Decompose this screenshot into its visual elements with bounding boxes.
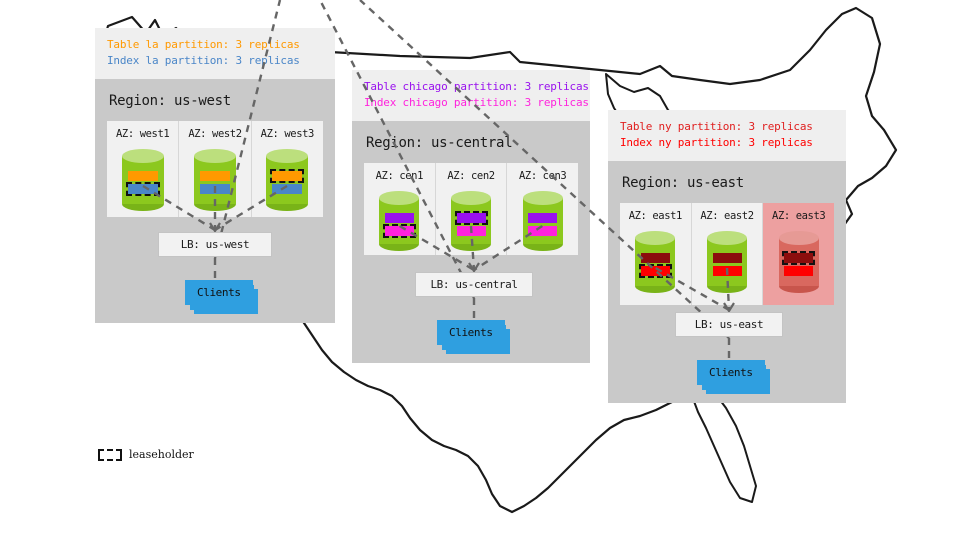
replica-band-leaseholder <box>272 171 302 181</box>
az-cell-west3[interactable]: AZ: west3 <box>252 121 323 217</box>
region-panel-us-east: Table ny partition: 3 replicasIndex ny p… <box>608 110 846 403</box>
az-label: AZ: west1 <box>113 128 172 140</box>
replica-bands <box>779 253 819 276</box>
partition-line: Table chicago partition: 3 replicas <box>364 79 578 95</box>
replica-band-leaseholder <box>641 266 670 276</box>
cylinder-top <box>194 149 236 163</box>
clients-label[interactable]: Clients <box>437 320 505 345</box>
region-title: Region: us-west <box>109 93 323 109</box>
az-label: AZ: cen2 <box>442 170 501 182</box>
partition-line: Index chicago partition: 3 replicas <box>364 95 578 111</box>
replica-bands <box>635 253 675 276</box>
database-node-cylinder[interactable] <box>122 149 164 211</box>
az-cell-west1[interactable]: AZ: west1 <box>107 121 179 217</box>
az-row-us-west: AZ: west1AZ: west2AZ: west3 <box>107 121 323 217</box>
clients-label[interactable]: Clients <box>697 360 765 385</box>
az-label: AZ: east2 <box>698 210 757 222</box>
partition-header-us-east: Table ny partition: 3 replicasIndex ny p… <box>608 110 846 161</box>
cylinder-top <box>379 191 419 205</box>
az-cell-east2[interactable]: AZ: east2 <box>692 203 764 305</box>
cylinder-top <box>779 231 819 245</box>
replica-band <box>528 226 557 236</box>
cylinder-top <box>523 191 563 205</box>
cylinder-top <box>122 149 164 163</box>
replica-band <box>641 253 670 263</box>
replica-bands <box>122 171 164 194</box>
database-node-cylinder[interactable] <box>635 231 675 293</box>
az-label: AZ: cen1 <box>370 170 429 182</box>
partition-line: Index ny partition: 3 replicas <box>620 135 834 151</box>
az-cell-east3[interactable]: AZ: east3 <box>763 203 834 305</box>
clients-label[interactable]: Clients <box>185 280 253 305</box>
replica-band <box>200 184 230 194</box>
clients-stack-us-central[interactable]: Clients <box>437 320 505 345</box>
az-cell-cen1[interactable]: AZ: cen1 <box>364 163 436 255</box>
az-cell-east1[interactable]: AZ: east1 <box>620 203 692 305</box>
dashed-rect-icon <box>98 449 122 461</box>
database-node-cylinder[interactable] <box>523 191 563 251</box>
replica-band <box>528 213 557 223</box>
region-panel-us-west: Table la partition: 3 replicasIndex la p… <box>95 28 335 323</box>
az-label: AZ: east3 <box>769 210 828 222</box>
clients-stack-us-west[interactable]: Clients <box>185 280 253 305</box>
az-label: AZ: west2 <box>185 128 244 140</box>
load-balancer-us-west[interactable]: LB: us-west <box>158 232 272 257</box>
replica-band <box>784 266 813 276</box>
replica-band <box>713 253 742 263</box>
az-row-us-central: AZ: cen1AZ: cen2AZ: cen3 <box>364 163 578 255</box>
replica-band-leaseholder <box>457 213 486 223</box>
cylinder-top <box>266 149 308 163</box>
az-row-us-east: AZ: east1AZ: east2AZ: east3 <box>620 203 834 305</box>
az-cell-cen2[interactable]: AZ: cen2 <box>436 163 508 255</box>
database-node-cylinder[interactable] <box>451 191 491 251</box>
database-node-cylinder[interactable] <box>194 149 236 211</box>
replica-band-leaseholder <box>128 184 158 194</box>
az-cell-cen3[interactable]: AZ: cen3 <box>507 163 578 255</box>
az-label: AZ: cen3 <box>513 170 572 182</box>
partition-header-us-west: Table la partition: 3 replicasIndex la p… <box>95 28 335 79</box>
replica-band <box>385 213 414 223</box>
replica-bands <box>707 253 747 276</box>
replica-band-leaseholder <box>385 226 414 236</box>
replica-band <box>713 266 742 276</box>
clients-stack-us-east[interactable]: Clients <box>697 360 765 385</box>
replica-bands <box>523 213 563 236</box>
region-title: Region: us-east <box>622 175 834 191</box>
partition-line: Table ny partition: 3 replicas <box>620 119 834 135</box>
replica-band <box>200 171 230 181</box>
region-panel-us-central: Table chicago partition: 3 replicasIndex… <box>352 70 590 363</box>
legend-leaseholder: leaseholder <box>98 448 194 461</box>
replica-band <box>457 226 486 236</box>
az-label: AZ: west3 <box>258 128 317 140</box>
replica-band <box>272 184 302 194</box>
cylinder-top <box>635 231 675 245</box>
replica-bands <box>266 171 308 194</box>
cylinder-top <box>451 191 491 205</box>
region-title: Region: us-central <box>366 135 578 151</box>
replica-bands <box>194 171 236 194</box>
replica-band-leaseholder <box>784 253 813 263</box>
database-node-cylinder[interactable] <box>266 149 308 211</box>
database-node-cylinder[interactable] <box>707 231 747 293</box>
replica-bands <box>451 213 491 236</box>
database-node-cylinder[interactable] <box>779 231 819 293</box>
replica-band <box>128 171 158 181</box>
partition-line: Table la partition: 3 replicas <box>107 37 323 53</box>
cylinder-top <box>707 231 747 245</box>
load-balancer-us-east[interactable]: LB: us-east <box>675 312 783 337</box>
database-node-cylinder[interactable] <box>379 191 419 251</box>
replica-bands <box>379 213 419 236</box>
load-balancer-us-central[interactable]: LB: us-central <box>415 272 533 297</box>
partition-line: Index la partition: 3 replicas <box>107 53 323 69</box>
az-cell-west2[interactable]: AZ: west2 <box>179 121 251 217</box>
legend-label: leaseholder <box>129 448 194 461</box>
partition-header-us-central: Table chicago partition: 3 replicasIndex… <box>352 70 590 121</box>
az-label: AZ: east1 <box>626 210 685 222</box>
